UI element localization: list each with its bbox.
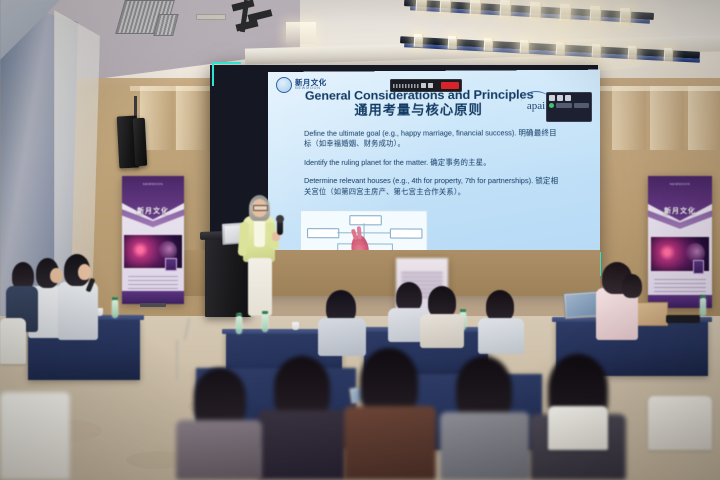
- banner-sub-right: NEWMOON: [648, 182, 712, 186]
- rollup-banner-right: NEWMOON 新月文化: [648, 176, 712, 308]
- wall-panel: [650, 86, 684, 150]
- banner-badge: [165, 258, 176, 272]
- attendee-hair: [194, 368, 246, 426]
- bottle-cap: [236, 313, 242, 316]
- slide-bullet-3: Determine relevant houses (e.g., 4th for…: [304, 176, 559, 197]
- attendee-torso: [176, 420, 262, 480]
- water-bottle: [262, 314, 268, 332]
- toolbar-status-text: [393, 84, 419, 88]
- slide-title: General Considerations and Principles 通用…: [288, 88, 551, 118]
- chair: [0, 318, 26, 364]
- bottle-cap: [112, 297, 118, 300]
- toolbar-icon[interactable]: [421, 83, 426, 88]
- bullet-1-en: Define the ultimate goal (e.g., happy ma…: [304, 128, 516, 138]
- attendee-torso: [478, 318, 524, 354]
- wall-panel: [688, 86, 720, 150]
- newmoon-seal-icon: [276, 77, 292, 93]
- bullet-3-en: Determine relevant houses (e.g., 4th for…: [304, 176, 533, 185]
- ceiling-strip: [196, 14, 226, 20]
- water-bottle: [236, 316, 242, 334]
- attendee-torso: [344, 406, 436, 480]
- slide-title-cn: 通用考量与核心原则: [288, 103, 551, 119]
- chair: [548, 406, 608, 450]
- cardboard-box: [636, 302, 668, 326]
- presenter-glasses: [253, 205, 268, 211]
- slide-bullet-1: Define the ultimate goal (e.g., happy ma…: [304, 128, 559, 150]
- attendee-hair: [456, 356, 512, 420]
- handheld-microphone: [277, 219, 283, 235]
- toolbar-row: [549, 103, 589, 108]
- wall-cove-light: [596, 86, 720, 91]
- toolbar-button[interactable]: [574, 103, 590, 108]
- bottle-cap: [262, 311, 268, 314]
- flow-connector: [364, 223, 365, 232]
- newmoon-logo-cn: 新月文化: [295, 79, 327, 87]
- pendant-lamp-left: [286, 22, 316, 44]
- paper-cup: [292, 322, 299, 330]
- rollup-banner-left: NEWMOON 新月文化: [122, 176, 184, 304]
- toolbar-icon[interactable]: [565, 95, 571, 101]
- screen-share-toolbar[interactable]: [390, 79, 462, 92]
- toolbar-icon[interactable]: [557, 95, 563, 101]
- newmoon-logo: 新月文化 NEWMOON: [276, 77, 327, 93]
- flow-node: [307, 228, 339, 238]
- laptop-case: [666, 315, 700, 323]
- attendee-hair: [274, 356, 330, 418]
- attendee-torso: [318, 318, 366, 356]
- presenter-toolbar[interactable]: [546, 92, 592, 122]
- toolbar-icon[interactable]: [549, 95, 555, 101]
- attendee-torso: [258, 410, 346, 480]
- stop-share-button[interactable]: [441, 82, 459, 89]
- mic-cable: [176, 340, 178, 380]
- presenter-inner-top: [254, 217, 265, 247]
- bullet-2-en: Identify the ruling planet for the matte…: [304, 158, 428, 167]
- pendant-cluster-left: [228, 0, 284, 36]
- bullet-2-cn: 确定事务的主星。: [430, 158, 491, 167]
- bottle-cap: [460, 309, 466, 312]
- bottle-cap: [700, 295, 706, 298]
- wall-panel: [612, 86, 646, 150]
- banner-badge: [693, 260, 705, 274]
- screen-corner-bracket-top-left: [212, 62, 241, 86]
- status-dot-icon: [549, 103, 554, 108]
- toolbar-row: [549, 95, 589, 101]
- attendee-torso: [440, 412, 530, 480]
- banner-title-right: 新月文化: [648, 206, 712, 216]
- attendee-torso: [58, 282, 98, 340]
- banner-stand-left: [140, 303, 166, 307]
- wall-panel: [176, 86, 210, 150]
- flow-node: [390, 228, 423, 238]
- slide-bullet-2: Identify the ruling planet for the matte…: [304, 158, 559, 169]
- toolbar-button[interactable]: [556, 103, 572, 108]
- water-bottle: [700, 298, 706, 316]
- attendee-hair: [360, 348, 418, 414]
- chair: [0, 392, 70, 480]
- attendee-hair: [622, 274, 642, 298]
- attendee-torso: [420, 314, 464, 348]
- presenter-legs: [248, 258, 272, 316]
- flow-node: [349, 215, 381, 225]
- slide-body: Define the ultimate goal (e.g., happy ma…: [304, 128, 559, 206]
- newmoon-logo-en: NEWMOON: [295, 87, 327, 91]
- conference-photo: General Considerations and Principles 通用…: [0, 0, 720, 480]
- chair: [648, 396, 712, 450]
- attendee-head: [50, 268, 63, 283]
- toolbar-icon[interactable]: [428, 83, 433, 88]
- ceiling-loudspeaker: [133, 118, 147, 167]
- banner-sub-left: NEWMOON: [122, 182, 184, 186]
- water-bottle: [112, 300, 118, 318]
- banner-title-left: 新月文化: [122, 206, 184, 216]
- attendee-head: [78, 264, 91, 280]
